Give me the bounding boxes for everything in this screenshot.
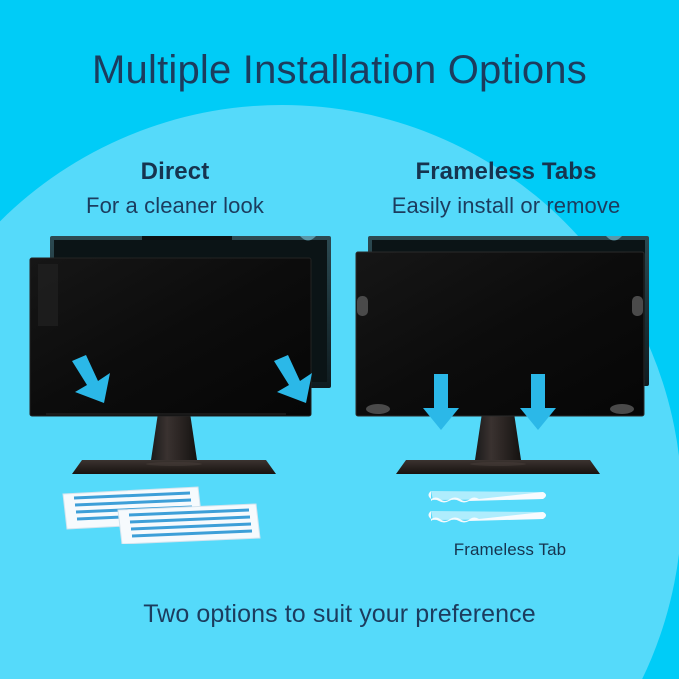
column-subtitle-direct: For a cleaner look (10, 192, 340, 220)
frameless-tab-icon (429, 511, 547, 523)
accessory-adhesive-strips (60, 482, 282, 544)
monitor-stand-highlight (470, 462, 526, 466)
privacy-filter-panel-icon (356, 252, 644, 416)
infographic-canvas: Multiple Installation Options Direct For… (0, 0, 679, 679)
footer-caption: Two options to suit your preference (0, 600, 679, 629)
column-heading-frameless: Frameless Tabs Easily install or remove (341, 158, 671, 219)
monitor-stand-neck (475, 413, 521, 460)
privacy-filter-panel-icon (30, 258, 311, 416)
column-title-direct: Direct (10, 158, 340, 187)
page-title: Multiple Installation Options (0, 48, 679, 93)
frameless-tab-icon (429, 491, 547, 503)
adhesive-strip-icon (118, 504, 260, 544)
monitor-stand-highlight (146, 462, 202, 466)
illustration-direct-monitor (20, 228, 340, 490)
monitor-stand-neck (151, 413, 197, 460)
accessory-label-frameless-tab: Frameless Tab (380, 540, 640, 560)
column-heading-direct: Direct For a cleaner look (10, 158, 340, 219)
column-title-frameless: Frameless Tabs (341, 158, 671, 187)
column-subtitle-frameless: Easily install or remove (341, 192, 671, 220)
illustration-frameless-monitor (344, 228, 664, 490)
accessory-frameless-tabs (425, 487, 555, 535)
